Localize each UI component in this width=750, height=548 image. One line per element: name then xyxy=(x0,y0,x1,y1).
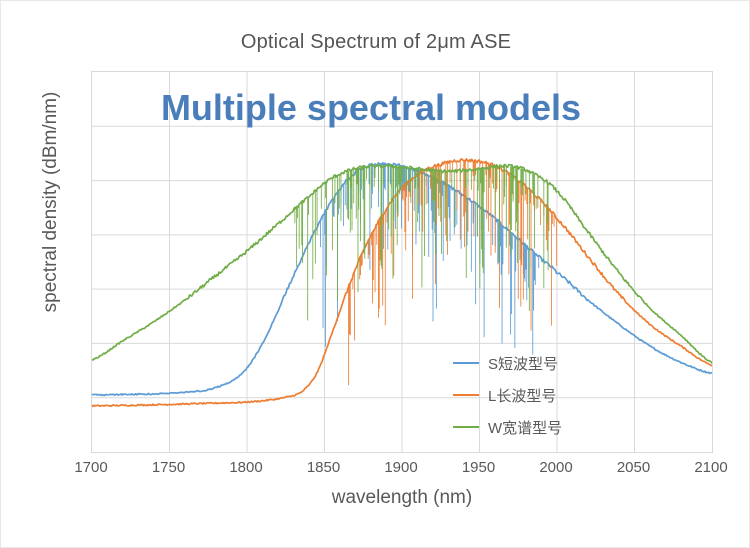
gridlines xyxy=(92,72,712,452)
x-tick-label: 1750 xyxy=(129,459,209,476)
x-tick-label: 2050 xyxy=(594,459,674,476)
legend-label: W宽谱型号 xyxy=(488,417,562,438)
x-tick-label: 2000 xyxy=(516,459,596,476)
y-axis-title: spectral density (dBm/nm) xyxy=(40,2,62,402)
legend-color-swatch xyxy=(453,394,479,396)
x-tick-label: 2100 xyxy=(671,459,750,476)
legend-item[interactable]: S短波型号 xyxy=(453,347,562,379)
x-axis-title: wavelength (nm) xyxy=(91,487,713,509)
legend-item[interactable]: W宽谱型号 xyxy=(453,411,562,443)
chart-title: Optical Spectrum of 2μm ASE xyxy=(1,31,750,54)
legend-color-swatch xyxy=(453,426,479,428)
legend-label: S短波型号 xyxy=(488,353,558,374)
legend-color-swatch xyxy=(453,362,479,364)
x-tick-label: 1850 xyxy=(284,459,364,476)
chart-legend: S短波型号L长波型号W宽谱型号 xyxy=(453,347,562,443)
legend-item[interactable]: L长波型号 xyxy=(453,379,562,411)
x-tick-label: 1700 xyxy=(51,459,131,476)
series-lines xyxy=(92,72,712,452)
chart-container: Optical Spectrum of 2μm ASE spectral den… xyxy=(0,0,750,548)
plot-area xyxy=(91,71,713,453)
x-tick-label: 1900 xyxy=(361,459,441,476)
legend-label: L长波型号 xyxy=(488,385,556,406)
x-tick-label: 1800 xyxy=(206,459,286,476)
x-tick-label: 1950 xyxy=(439,459,519,476)
